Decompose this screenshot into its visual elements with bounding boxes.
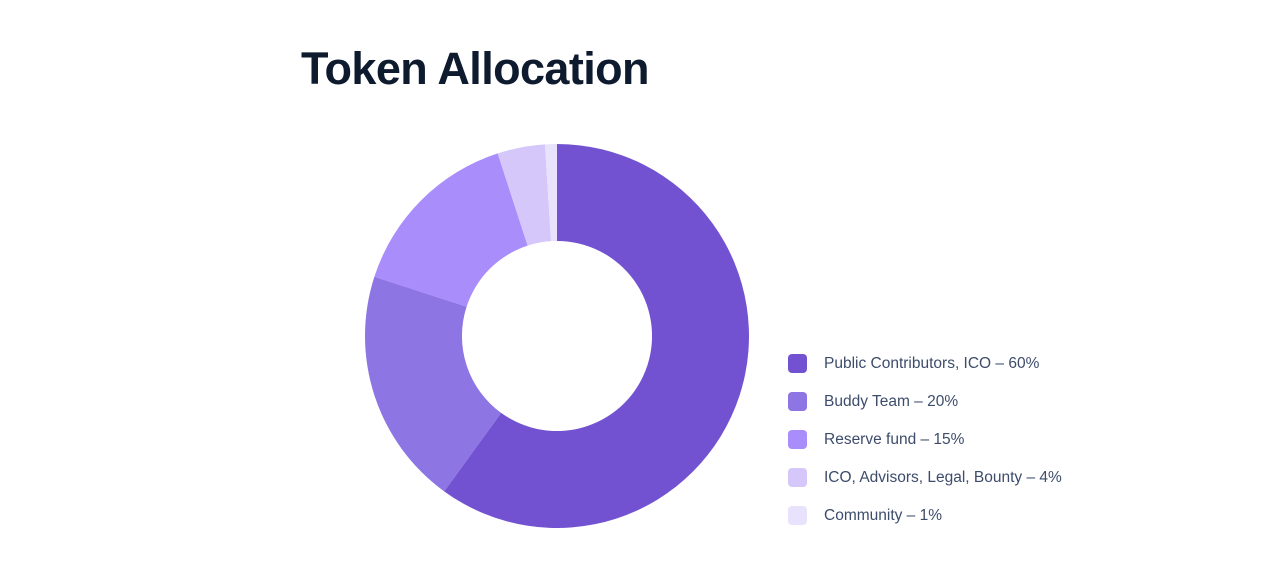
legend-color-swatch — [788, 468, 807, 487]
legend-item[interactable]: Reserve fund – 15% — [788, 420, 1128, 458]
legend-item[interactable]: Buddy Team – 20% — [788, 382, 1128, 420]
legend-item[interactable]: Community – 1% — [788, 496, 1128, 534]
legend-color-swatch — [788, 506, 807, 525]
donut-chart — [365, 144, 749, 528]
legend-color-swatch — [788, 354, 807, 373]
legend-item-label: Public Contributors, ICO – 60% — [824, 354, 1039, 373]
token-allocation-chart-page: Token Allocation Public Contributors, IC… — [0, 0, 1280, 584]
donut-slice[interactable] — [374, 153, 527, 306]
legend-item-label: Buddy Team – 20% — [824, 392, 958, 411]
page-title: Token Allocation — [301, 40, 649, 98]
legend-color-swatch — [788, 430, 807, 449]
legend-color-swatch — [788, 392, 807, 411]
chart-legend: Public Contributors, ICO – 60%Buddy Team… — [788, 344, 1128, 534]
legend-item-label: ICO, Advisors, Legal, Bounty – 4% — [824, 468, 1062, 487]
legend-item[interactable]: Public Contributors, ICO – 60% — [788, 344, 1128, 382]
legend-item[interactable]: ICO, Advisors, Legal, Bounty – 4% — [788, 458, 1128, 496]
legend-item-label: Reserve fund – 15% — [824, 430, 964, 449]
donut-slice-group — [365, 144, 749, 528]
legend-item-label: Community – 1% — [824, 506, 942, 525]
donut-chart-svg — [365, 144, 749, 528]
